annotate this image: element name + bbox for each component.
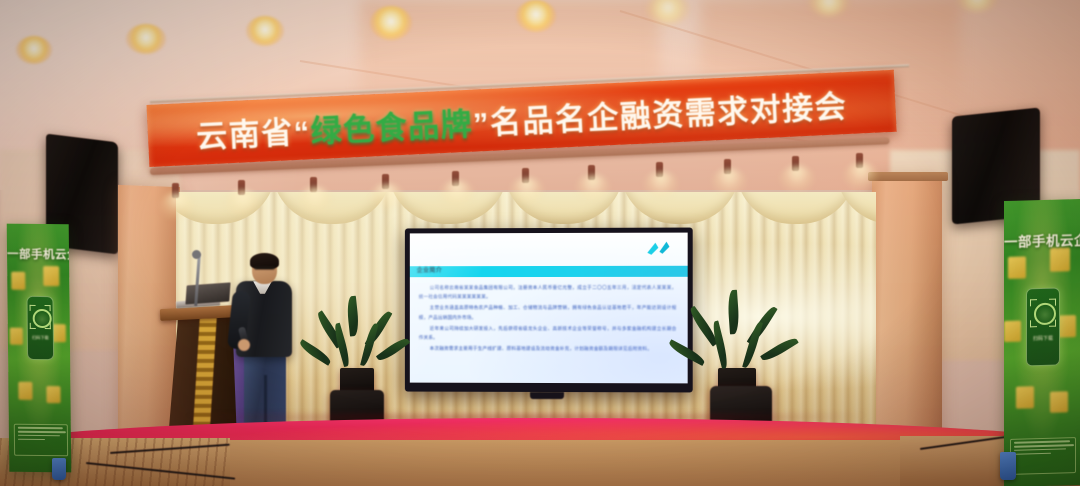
rollup-left-footer xyxy=(14,424,68,457)
slide-paragraph: 近年来公司持续加大研发投入，先后获得省级龙头企业、高新技术企业等荣誉称号，并与多… xyxy=(419,324,677,343)
screen-stand xyxy=(530,392,564,399)
decor-card xyxy=(10,328,23,345)
rollup-right-footer xyxy=(1010,437,1076,475)
scan-corner xyxy=(1049,299,1056,306)
scan-corner xyxy=(30,305,36,311)
decor-card xyxy=(1008,256,1026,279)
decor-card xyxy=(1050,247,1070,272)
ceiling-downlight xyxy=(126,24,166,54)
spotlight-glow xyxy=(576,175,610,201)
rollup-right-title: 一部手机云企贷 xyxy=(1004,229,1080,251)
footer-line xyxy=(18,431,66,433)
potted-palm-left xyxy=(326,300,396,396)
rollup-left-caption: 扫码下载 xyxy=(28,335,53,341)
presenter xyxy=(232,255,292,440)
rollup-right-base xyxy=(1000,452,1016,480)
ceiling-downlight xyxy=(370,6,412,40)
pillar-tint xyxy=(872,175,942,460)
microphone-head xyxy=(192,250,201,259)
spotlight-glow xyxy=(644,172,678,198)
ceiling-downlight xyxy=(516,0,556,32)
pillar-cap-right xyxy=(868,172,948,181)
footer-line xyxy=(1014,452,1051,455)
decor-card xyxy=(43,266,59,286)
cyan-chevron-logo xyxy=(645,241,675,257)
ceiling-downlight xyxy=(246,16,284,46)
presenter-hand xyxy=(238,339,250,351)
rollup-banner-right[interactable]: 一部手机云企贷 扫码下载 xyxy=(1004,199,1080,486)
spotlight-glow xyxy=(370,184,404,210)
slide-paragraph: 本次融资需求主要用于生产线扩建、原料基地建设及流动资金补充，计划融资金额及期限详… xyxy=(419,344,677,354)
screen-display: 企业简介 公司名称云南省某某食品集团有限公司，注册资本人民币壹亿元整，成立于二〇… xyxy=(410,233,688,384)
banner-seg-green: 绿色食品牌 xyxy=(310,98,474,151)
rollup-left-title: 一部手机云企贷 xyxy=(7,246,69,263)
palm-frond xyxy=(742,321,763,369)
rollup-right-caption: 扫码下载 xyxy=(1027,335,1059,343)
banner-seg-3: ”名品名企融资需求对接会 xyxy=(472,81,848,144)
laptop-screen[interactable] xyxy=(185,282,230,304)
spotlight-glow xyxy=(510,178,544,204)
decor-card xyxy=(1050,391,1068,413)
scan-corner xyxy=(1030,320,1037,327)
scan-corner xyxy=(1049,320,1056,327)
scan-corner xyxy=(30,323,36,329)
decor-card xyxy=(46,386,60,403)
banner-seg-1: 云南省“ xyxy=(195,106,311,156)
phone-scan-icon: 扫码下载 xyxy=(26,296,54,360)
slide-section-label: 企业简介 xyxy=(417,267,442,276)
decor-card xyxy=(1016,386,1034,409)
palm-frond xyxy=(360,322,378,367)
spotlight-glow xyxy=(440,181,474,207)
slide-body-text: 公司名称云南省某某食品集团有限公司，注册资本人民币壹亿元整，成立于二〇〇五年三月… xyxy=(419,283,677,356)
slide-section-bar xyxy=(410,266,688,277)
palm-frond xyxy=(727,290,740,335)
spotlight-glow xyxy=(298,187,332,213)
slide-paragraph: 主营业务涵盖高原特色农产品种植、加工、仓储物流与品牌营销，拥有绿色食品认证基地若… xyxy=(419,303,677,321)
decor-card xyxy=(18,382,32,400)
scan-corner xyxy=(45,323,51,329)
scan-corner xyxy=(45,305,51,311)
footer-line xyxy=(18,435,60,437)
footer-line xyxy=(1014,440,1070,443)
decor-card xyxy=(1058,315,1076,338)
phone-scan-icon: 扫码下载 xyxy=(1026,287,1060,366)
footer-line xyxy=(1014,448,1066,451)
footer-line xyxy=(1014,444,1074,447)
footer-line xyxy=(18,427,63,429)
palm-frond xyxy=(346,296,360,337)
spotlight-glow xyxy=(844,163,878,189)
slide-paragraph: 公司名称云南省某某食品集团有限公司，注册资本人民币壹亿元整，成立于二〇〇五年三月… xyxy=(419,283,677,302)
glasses-icon xyxy=(254,266,275,270)
ceiling-downlight xyxy=(16,36,52,64)
spotlight-glow xyxy=(160,193,194,219)
footer-line xyxy=(18,438,45,440)
decor-card xyxy=(1004,321,1021,342)
presentation-screen[interactable]: 企业简介 公司名称云南省某某食品集团有限公司，注册资本人民币壹亿元整，成立于二〇… xyxy=(405,228,693,393)
decor-card xyxy=(11,272,25,290)
spotlight-glow xyxy=(780,166,814,192)
rollup-banner-left[interactable]: 一部手机云企贷 扫码下载 xyxy=(7,224,72,473)
conference-stage-photo: 云南省“绿色食品牌”名品名企融资需求对接会 企业简介 公司名称云南省某某食品集团… xyxy=(0,0,1080,486)
rollup-left-base xyxy=(52,458,66,480)
spotlight-glow xyxy=(712,169,746,195)
scan-corner xyxy=(1030,299,1037,306)
wooden-pillar-right xyxy=(872,175,942,460)
spotlight-glow xyxy=(226,190,260,216)
potted-palm-right xyxy=(700,296,778,398)
